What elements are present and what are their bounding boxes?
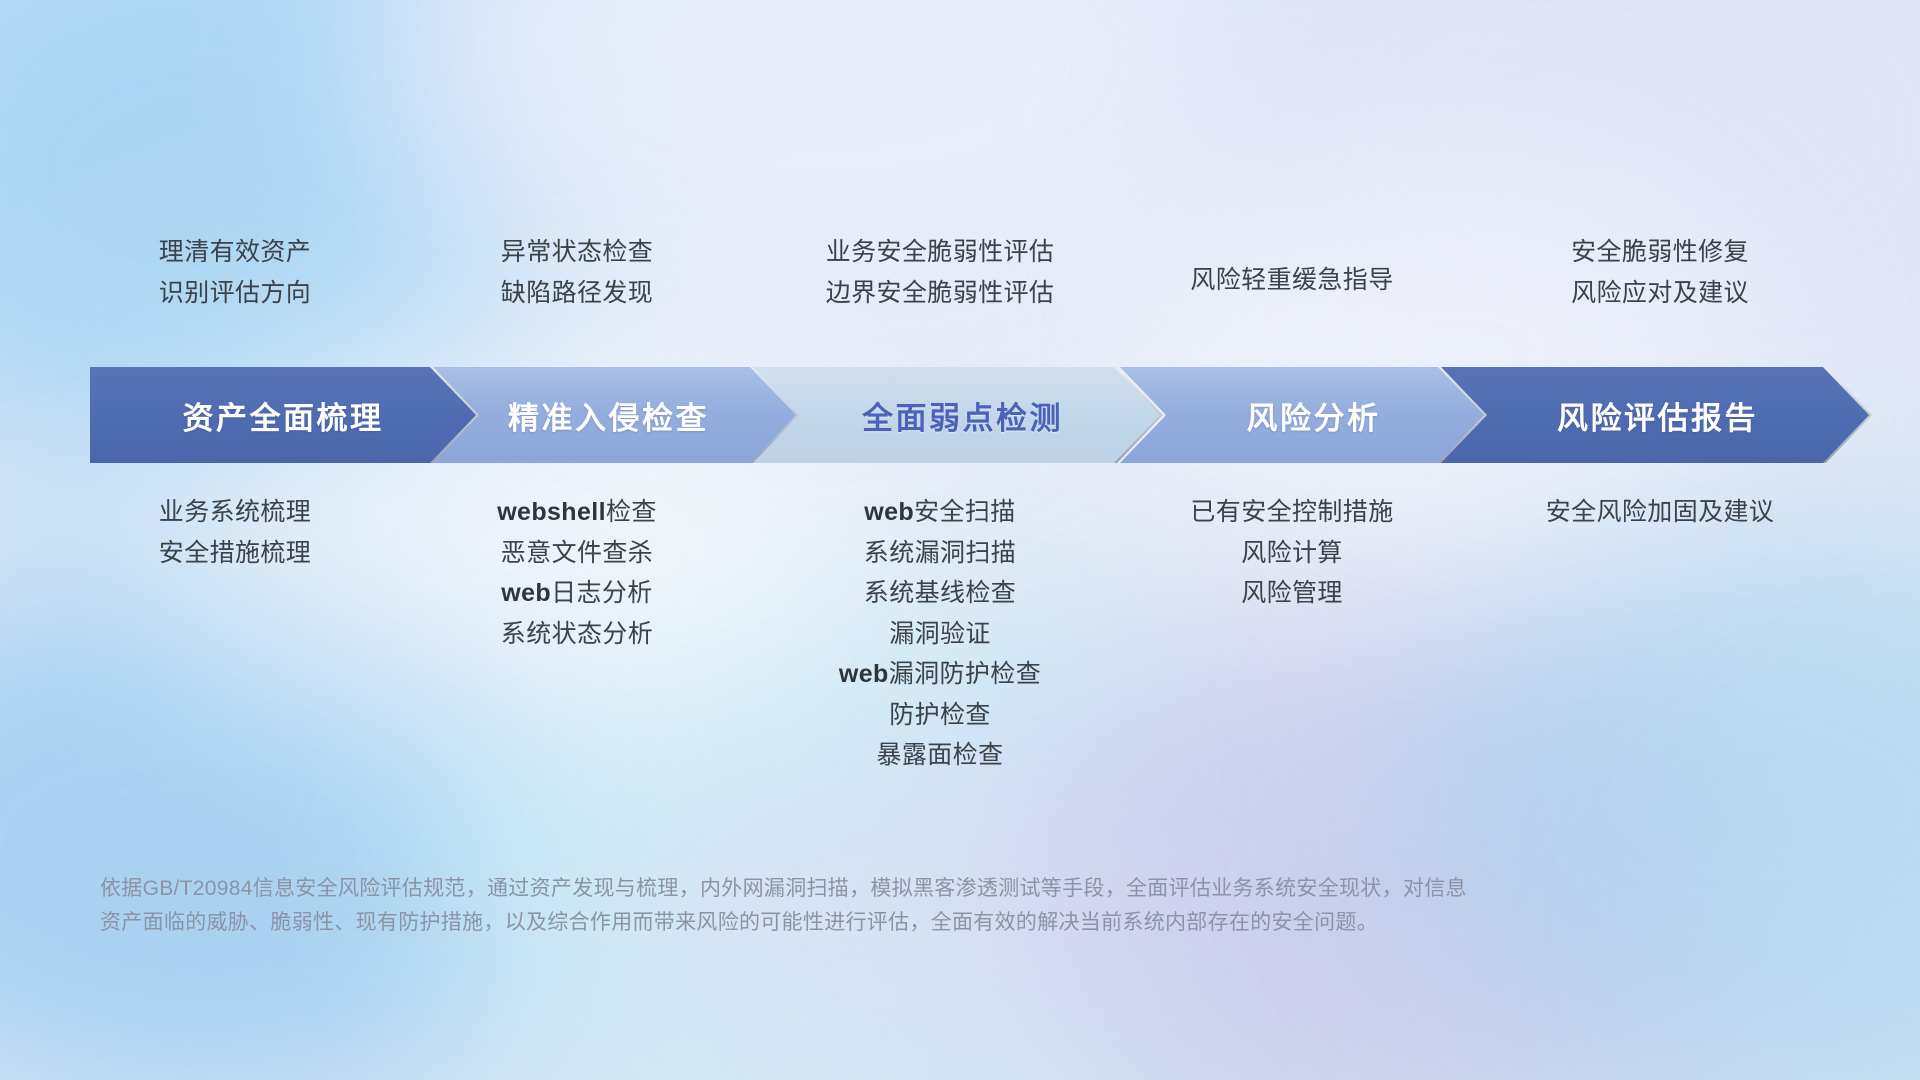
lower-label: 风险计算 (1241, 533, 1343, 574)
upper-label-group-risk-report: 安全脆弱性修复风险应对及建议 (1410, 232, 1910, 313)
upper-label: 异常状态检查 (501, 232, 653, 273)
lower-label: 漏洞验证 (889, 614, 991, 655)
chevron-step-risk-report[interactable]: 风险评估报告 (1423, 367, 1869, 463)
chevron-label: 全面弱点检测 (862, 393, 1063, 438)
lower-label: 安全措施梳理 (159, 533, 311, 574)
lower-label: web漏洞防护检查 (839, 654, 1041, 695)
upper-label: 边界安全脆弱性评估 (826, 273, 1055, 314)
slide-canvas: 理清有效资产识别评估方向异常状态检查缺陷路径发现业务安全脆弱性评估边界安全脆弱性… (0, 0, 1920, 1080)
upper-label: 业务安全脆弱性评估 (826, 232, 1055, 273)
upper-label: 风险轻重缓急指导 (1190, 260, 1393, 301)
lower-label: 安全风险加固及建议 (1546, 492, 1775, 533)
lower-label: 业务系统梳理 (159, 492, 311, 533)
footer-description: 依据GB/T20984信息安全风险评估规范，通过资产发现与梳理，内外网漏洞扫描，… (100, 872, 1760, 940)
lower-label: webshell检查 (497, 492, 657, 533)
lower-label: 暴露面检查 (876, 735, 1003, 776)
chevron-label: 精准入侵检查 (508, 393, 709, 438)
lower-label: 恶意文件查杀 (501, 533, 653, 574)
chevron-label: 风险评估报告 (1557, 393, 1758, 438)
lower-label: 防护检查 (889, 695, 991, 736)
footer-line-2: 资产面临的威胁、脆弱性、现有防护措施，以及综合作用而带来风险的可能性进行评估，全… (100, 906, 1760, 940)
upper-label: 缺陷路径发现 (501, 273, 653, 314)
upper-label: 识别评估方向 (159, 273, 311, 314)
footer-line-1: 依据GB/T20984信息安全风险评估规范，通过资产发现与梳理，内外网漏洞扫描，… (100, 872, 1760, 906)
lower-label: 已有安全控制措施 (1190, 492, 1393, 533)
lower-label: web日志分析 (501, 573, 652, 614)
upper-label: 安全脆弱性修复 (1571, 232, 1749, 273)
lower-label: web安全扫描 (864, 492, 1015, 533)
chevron-label: 资产全面梳理 (183, 393, 384, 438)
chevron-label: 风险分析 (1247, 393, 1381, 438)
lower-label-group-risk-report: 安全风险加固及建议 (1410, 492, 1910, 533)
chevron-step-asset-inventory[interactable]: 资产全面梳理 (90, 367, 476, 463)
upper-label: 理清有效资产 (159, 232, 311, 273)
process-chevron-banner: 资产全面梳理精准入侵检查全面弱点检测风险分析风险评估报告 (90, 367, 1910, 463)
upper-label: 风险应对及建议 (1571, 273, 1749, 314)
upper-labels-row: 理清有效资产识别评估方向异常状态检查缺陷路径发现业务安全脆弱性评估边界安全脆弱性… (0, 232, 1920, 342)
lower-label: 系统漏洞扫描 (864, 533, 1016, 574)
chevron-step-weakness-detection[interactable]: 全面弱点检测 (742, 367, 1160, 463)
chevron-step-risk-analysis[interactable]: 风险分析 (1120, 367, 1484, 463)
lower-label: 系统基线检查 (864, 573, 1016, 614)
lower-label: 风险管理 (1241, 573, 1343, 614)
lower-label: 系统状态分析 (501, 614, 653, 655)
